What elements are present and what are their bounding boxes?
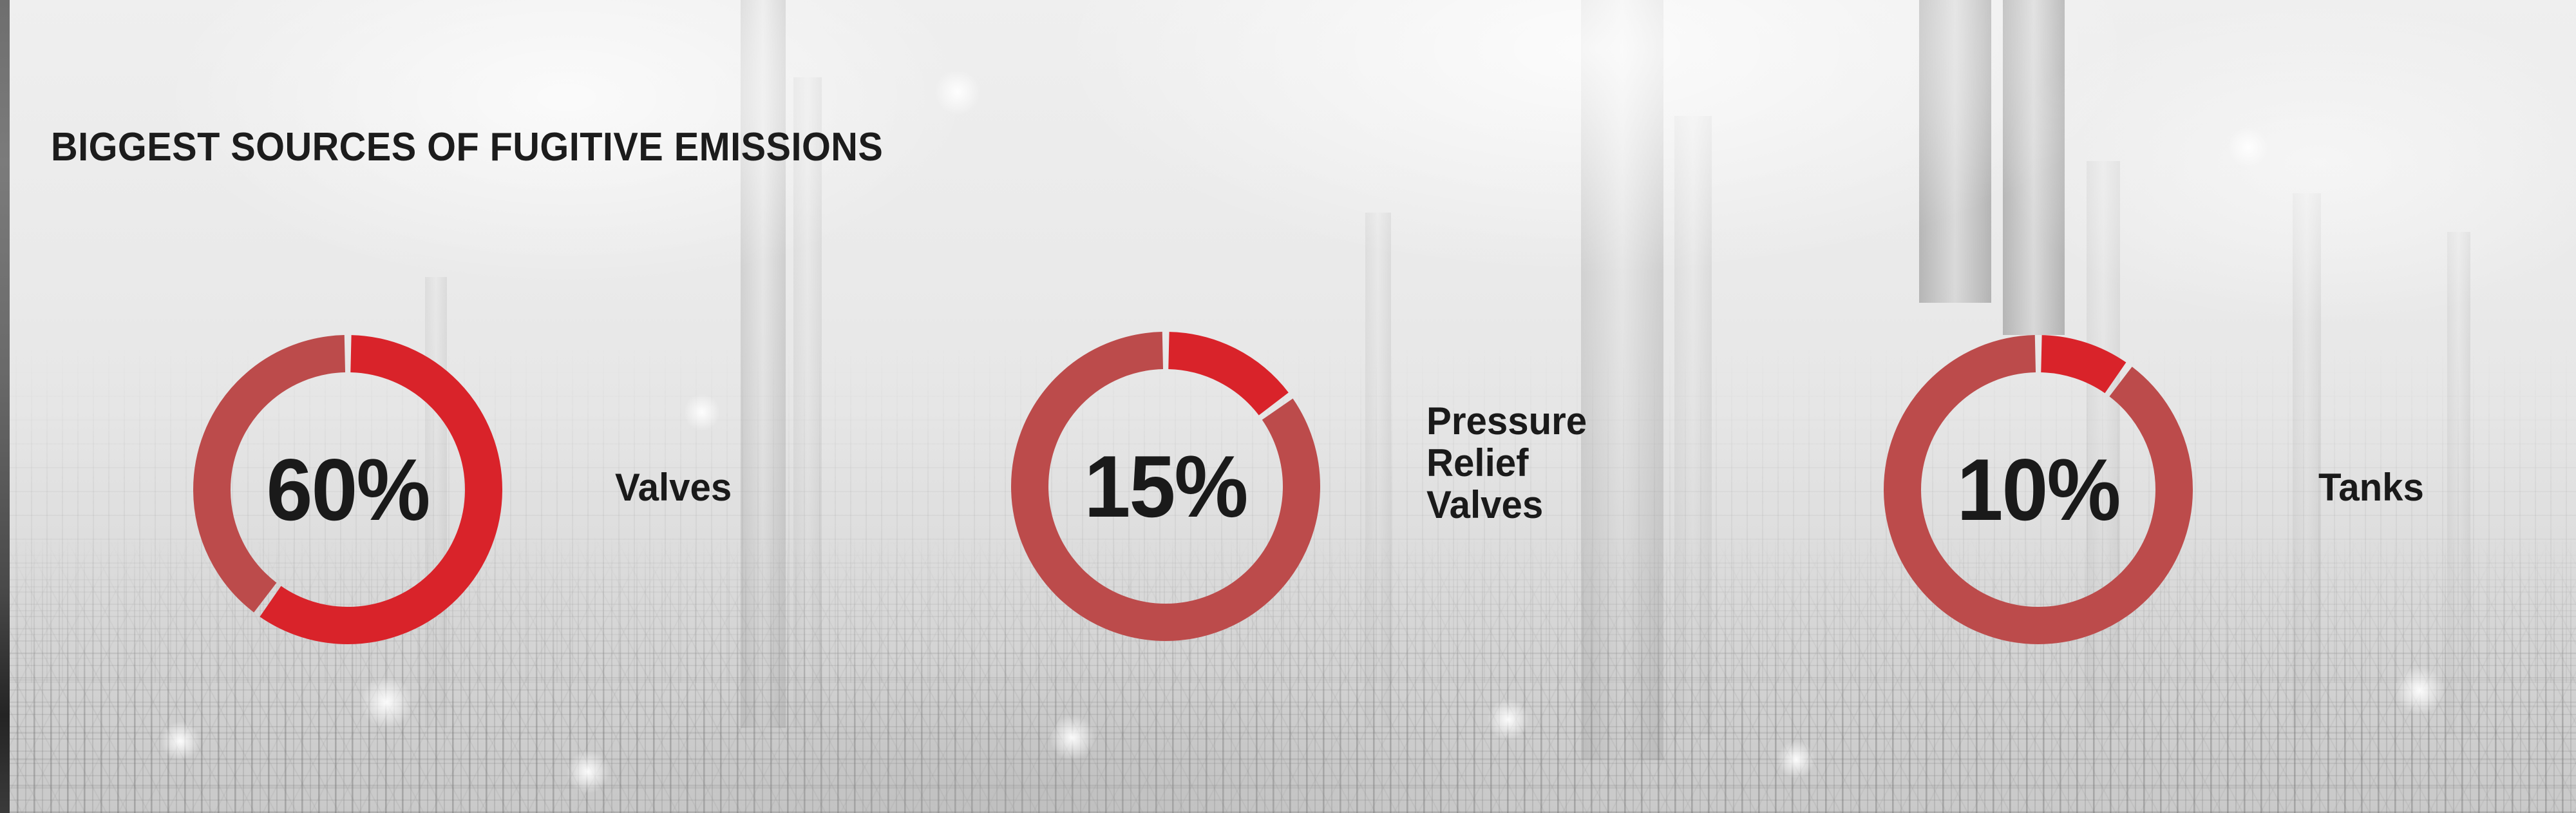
donut-chart-tanks: 10% [1884,335,2193,644]
infographic-canvas: BIGGEST SOURCES OF FUGITIVE EMISSIONS 60… [0,0,2576,813]
donut-label-valves: Valves [615,467,732,509]
donut-label-pressure-relief-valves: Pressure Relief Valves [1426,401,1587,526]
page-title: BIGGEST SOURCES OF FUGITIVE EMISSIONS [51,128,883,167]
donut-chart-valves: 60% [193,335,502,644]
donut-value-pressure-relief-valves: 15% [1019,332,1312,641]
donut-value-valves: 60% [201,335,495,644]
donut-label-tanks: Tanks [2318,467,2424,509]
donut-value-tanks: 10% [1891,335,2185,644]
donut-chart-pressure-relief-valves: 15% [1011,332,1320,641]
infographic-content: BIGGEST SOURCES OF FUGITIVE EMISSIONS 60… [0,0,2576,813]
